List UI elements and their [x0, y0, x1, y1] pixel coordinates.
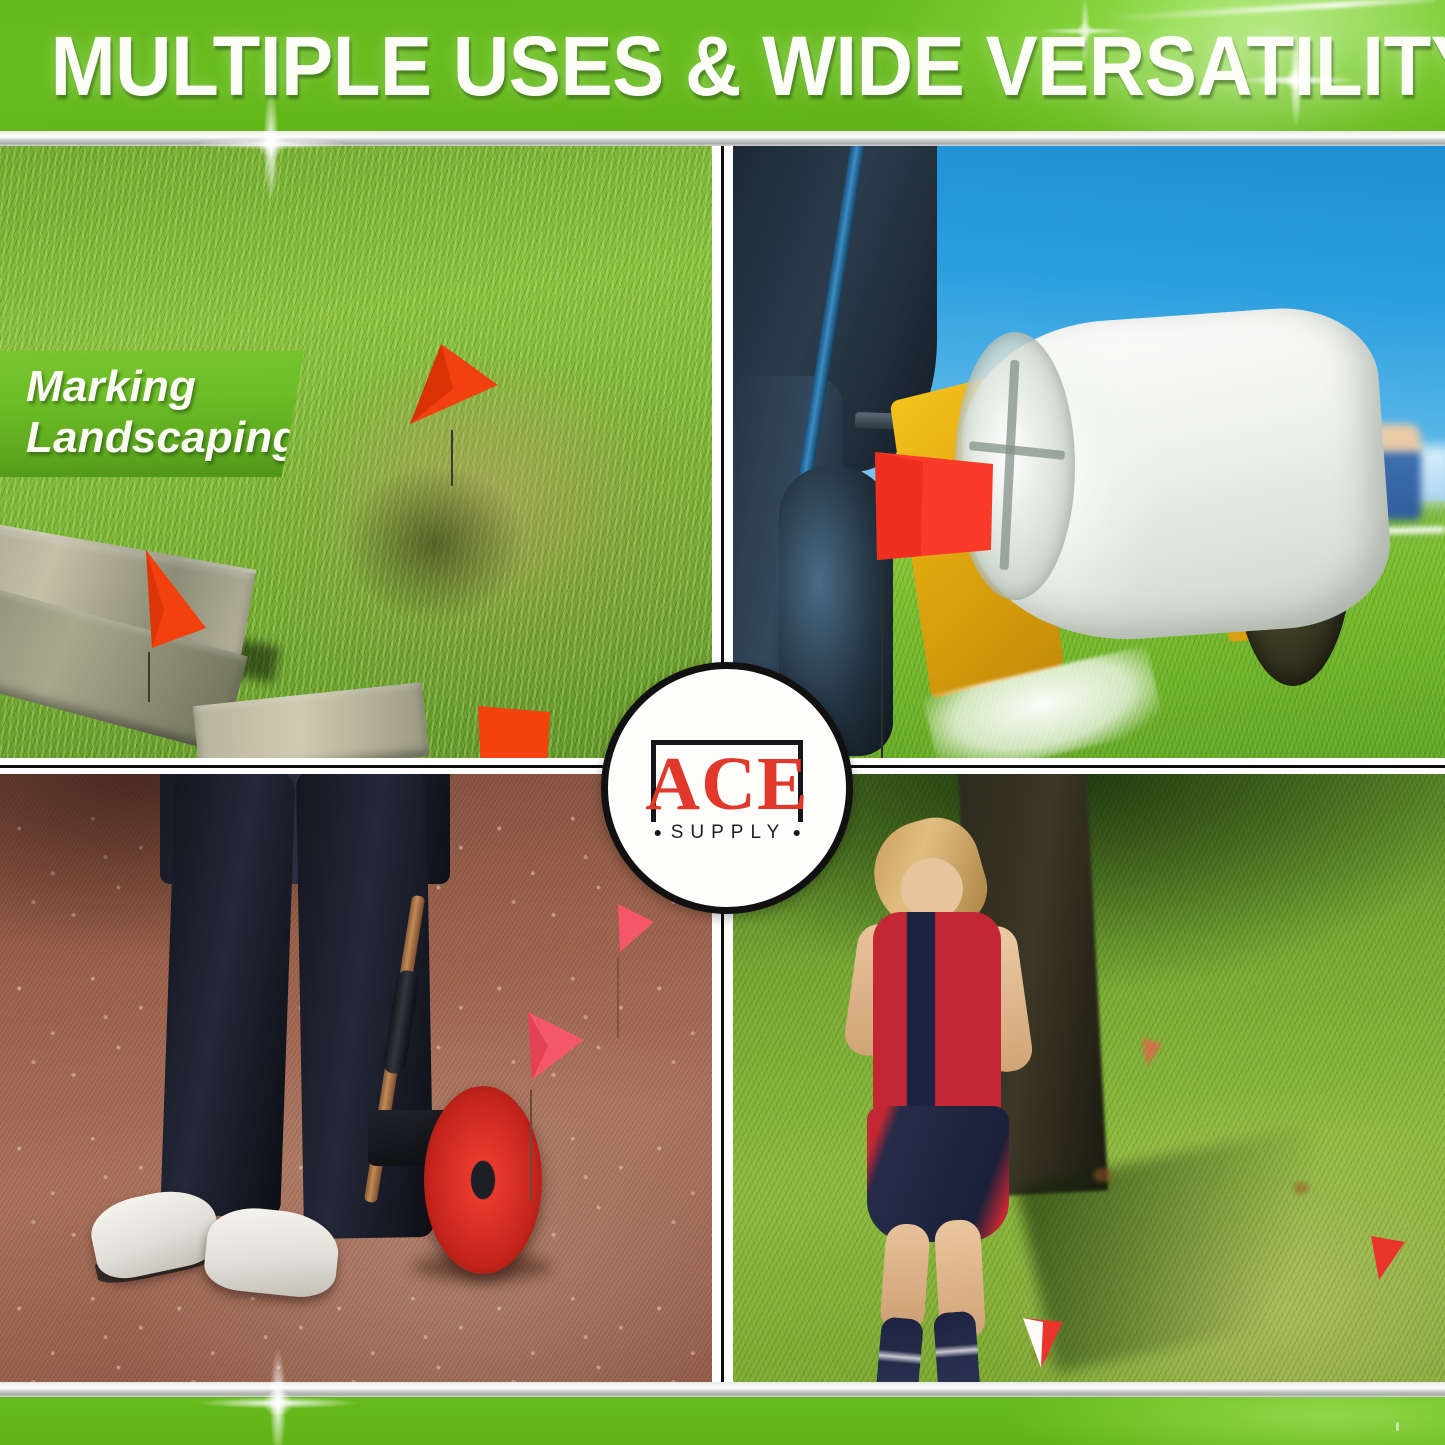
runner-sock-left: [872, 1316, 924, 1382]
marking-flag-icon: [138, 548, 218, 652]
page-title: MULTIPLE USES & WIDE VERSATILITY: [51, 22, 1395, 110]
marking-flag-icon: [865, 446, 1001, 566]
flag-blade: [518, 1006, 592, 1090]
flag-blade: [402, 342, 500, 430]
flag-stake: [148, 652, 150, 702]
panel-photo-top-left: Marking Landscaping: [0, 146, 712, 758]
marking-flag-icon: [518, 1006, 592, 1090]
marking-flag-icon: [460, 702, 552, 758]
marking-flag-icon: [1019, 1314, 1067, 1372]
runner-figure: [821, 820, 1051, 1380]
marking-flag-icon: [402, 342, 500, 430]
person-leg-left: [160, 774, 296, 1218]
marking-flag-icon: [1139, 1036, 1165, 1068]
flag-blade: [610, 900, 660, 958]
logo-dot-left: [655, 830, 661, 836]
runner-head: [901, 858, 963, 920]
runner-thigh-left: [879, 1223, 930, 1334]
runner-shorts: [867, 1106, 1009, 1242]
flag-stake: [881, 566, 883, 758]
marking-flag-icon: [1365, 1232, 1409, 1284]
label-banner-top-left: Marking Landscaping: [0, 351, 304, 477]
top-divider-bar: [0, 131, 1445, 146]
footer-speck: [1396, 1422, 1399, 1431]
brand-logo-badge: ACE SUPPLY: [601, 662, 853, 914]
label-text: Marking Landscaping: [26, 361, 300, 463]
flag-stake: [530, 1090, 532, 1200]
fallen-leaf: [1293, 1182, 1309, 1194]
panel-photo-bottom-left: Marking Distances with a Measurement Whe…: [0, 774, 712, 1382]
flag-blade: [138, 548, 218, 652]
footer-banner: [0, 1397, 1445, 1445]
logo-subtitle: SUPPLY: [668, 822, 787, 844]
flag-blade: [865, 446, 1001, 566]
measuring-wheel-disc: [424, 1086, 542, 1274]
header-banner: MULTIPLE USES & WIDE VERSATILITY: [0, 0, 1445, 131]
bottom-divider-bar: [0, 1382, 1445, 1397]
flag-blade: [1365, 1232, 1409, 1284]
logo-subtitle-wrap: SUPPLY: [646, 822, 809, 844]
grass-shadow-patch: [342, 464, 527, 623]
logo-frame: ACE SUPPLY: [651, 740, 803, 836]
logo-wordmark: ACE: [645, 747, 808, 821]
fallen-leaf: [1093, 1168, 1113, 1182]
runner-singlet: [873, 912, 1001, 1128]
infographic-page: MULTIPLE USES & WIDE VERSATILITY: [0, 0, 1445, 1445]
flag-blade: [1139, 1036, 1165, 1068]
marking-flag-icon: [610, 900, 660, 958]
logo-dot-right: [793, 830, 799, 836]
panel-photo-bottom-right: Marking Trails: [733, 774, 1445, 1382]
panel-photo-top-right: Marking Fields for Painting: [733, 146, 1445, 758]
flag-blade: [460, 702, 552, 758]
flag-blade: [1019, 1314, 1067, 1372]
flag-stake: [617, 958, 619, 1038]
flag-stake: [451, 430, 453, 486]
